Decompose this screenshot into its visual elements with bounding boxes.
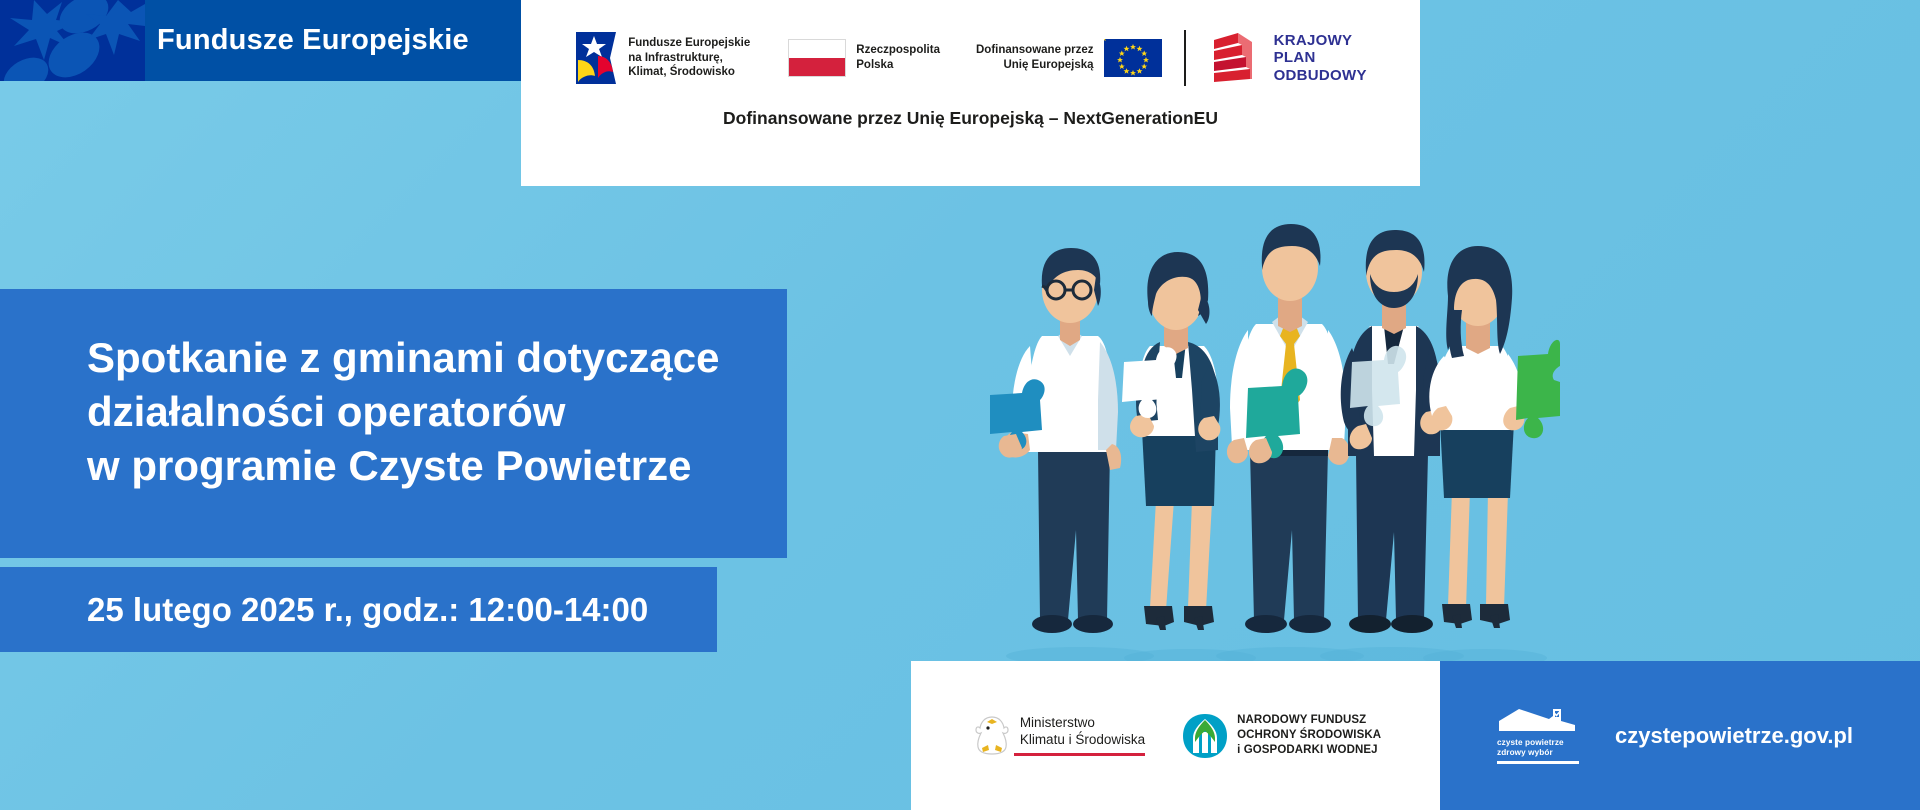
logo-divider bbox=[1184, 30, 1186, 86]
unia-europejska-logo-text: Dofinansowane przez Unię Europejską bbox=[976, 43, 1094, 72]
poland-flag-icon bbox=[788, 39, 846, 77]
krajowy-plan-odbudowy-icon bbox=[1208, 30, 1264, 86]
ministerstwo-klimatu-logo-text: Ministerstwo Klimatu i Środowiska bbox=[1020, 715, 1145, 749]
bottom-logo-panel: Ministerstwo Klimatu i Środowiska NARODO… bbox=[911, 661, 1440, 810]
nfosigw-logo-block: NARODOWY FUNDUSZ OCHRONY ŚRODOWISKA i GO… bbox=[1181, 712, 1381, 760]
eu-flag-icon bbox=[1104, 39, 1162, 77]
stars-pattern-icon bbox=[0, 0, 145, 81]
page-title: Spotkanie z gminami dotyczące działalnoś… bbox=[87, 331, 761, 492]
top-logo-row: Fundusze Europejskie na Infrastrukturę, … bbox=[521, 12, 1420, 104]
ministerstwo-klimatu-text-wrap: Ministerstwo Klimatu i Środowiska bbox=[1014, 715, 1145, 756]
czyste-powietrze-tagline-2: zdrowy wybór bbox=[1497, 748, 1579, 758]
czystepowietrze-cta-panel: czyste powietrze zdrowy wybór czystepowi… bbox=[1440, 661, 1920, 810]
fundusze-europejskie-icon bbox=[574, 30, 618, 86]
fundusze-europejskie-logo-text: Fundusze Europejskie na Infrastrukturę, … bbox=[628, 36, 750, 80]
person-man-with-glasses bbox=[990, 248, 1121, 633]
czyste-powietrze-logo-block[interactable]: czyste powietrze zdrowy wybór bbox=[1497, 707, 1579, 763]
czyste-powietrze-house-icon bbox=[1497, 707, 1579, 733]
czystepowietrze-url[interactable]: czystepowietrze.gov.pl bbox=[1615, 723, 1853, 749]
unia-europejska-logo-block: Dofinansowane przez Unię Europejską bbox=[976, 39, 1162, 77]
nfosigw-logo-text: NARODOWY FUNDUSZ OCHRONY ŚRODOWISKA i GO… bbox=[1237, 713, 1381, 759]
polish-eagle-icon bbox=[970, 712, 1014, 760]
rzeczpospolita-polska-logo-block: Rzeczpospolita Polska bbox=[788, 39, 940, 77]
person-woman-short-hair bbox=[1122, 252, 1220, 630]
ministerstwo-klimatu-logo-block: Ministerstwo Klimatu i Środowiska bbox=[970, 712, 1145, 760]
person-man-yellow-tie bbox=[1227, 224, 1350, 633]
person-bearded-man bbox=[1341, 230, 1443, 633]
event-title-box: Spotkanie z gminami dotyczące działalnoś… bbox=[0, 289, 787, 558]
event-date-box: 25 lutego 2025 r., godz.: 12:00-14:00 bbox=[0, 567, 717, 652]
funding-caption: Dofinansowane przez Unię Europejską – Ne… bbox=[521, 108, 1420, 129]
krajowy-plan-odbudowy-logo-block: KRAJOWY PLAN ODBUDOWY bbox=[1208, 30, 1367, 86]
fundusze-europejskie-brand-bar: Fundusze Europejskie bbox=[0, 0, 521, 81]
bottom-logo-row: Ministerstwo Klimatu i Środowiska NARODO… bbox=[911, 661, 1440, 810]
banner-canvas: Fundusze Europejskie Fundusze Europejski… bbox=[0, 0, 1920, 810]
ministry-red-rule bbox=[1014, 753, 1145, 756]
person-woman-long-hair bbox=[1429, 246, 1560, 628]
czyste-powietrze-underline bbox=[1497, 761, 1579, 764]
fundusze-europejskie-logo-block: Fundusze Europejskie na Infrastrukturę, … bbox=[574, 30, 750, 86]
event-date-time: 25 lutego 2025 r., godz.: 12:00-14:00 bbox=[87, 567, 648, 652]
nfosigw-icon bbox=[1181, 712, 1229, 760]
czyste-powietrze-tagline-1: czyste powietrze bbox=[1497, 738, 1579, 748]
business-people-illustration bbox=[960, 150, 1560, 670]
rzeczpospolita-polska-logo-text: Rzeczpospolita Polska bbox=[856, 43, 940, 72]
brand-bar-label: Fundusze Europejskie bbox=[157, 0, 469, 81]
krajowy-plan-odbudowy-logo-text: KRAJOWY PLAN ODBUDOWY bbox=[1274, 32, 1367, 84]
